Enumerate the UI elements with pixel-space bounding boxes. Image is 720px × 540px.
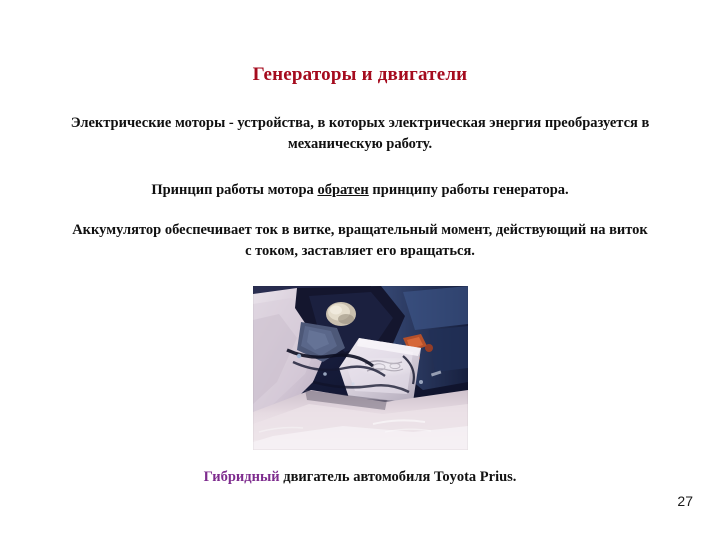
page-title: Генераторы и двигатели [0, 64, 720, 86]
paragraph-principle: Принцип работы мотора обратен принципу р… [70, 180, 650, 201]
paragraph-principle-emphasis: обратен [317, 182, 368, 198]
paragraph-principle-suffix: принципу работы генератора. [369, 182, 569, 198]
figure-caption-highlight: Гибридный [204, 469, 280, 485]
prius-engine-photo [253, 286, 468, 450]
page-number: 27 [677, 493, 693, 509]
paragraph-definition: Электрические моторы - устройства, в кот… [70, 113, 650, 155]
figure-caption: Гибридный двигатель автомобиля Toyota Pr… [0, 469, 720, 486]
paragraph-accumulator: Аккумулятор обеспечивает ток в витке, вр… [70, 220, 650, 262]
paragraph-principle-prefix: Принцип работы мотора [151, 182, 317, 198]
slide-root: Генераторы и двигатели Электрические мот… [0, 0, 720, 540]
figure-caption-rest: двигатель автомобиля Toyota Prius. [280, 469, 517, 485]
